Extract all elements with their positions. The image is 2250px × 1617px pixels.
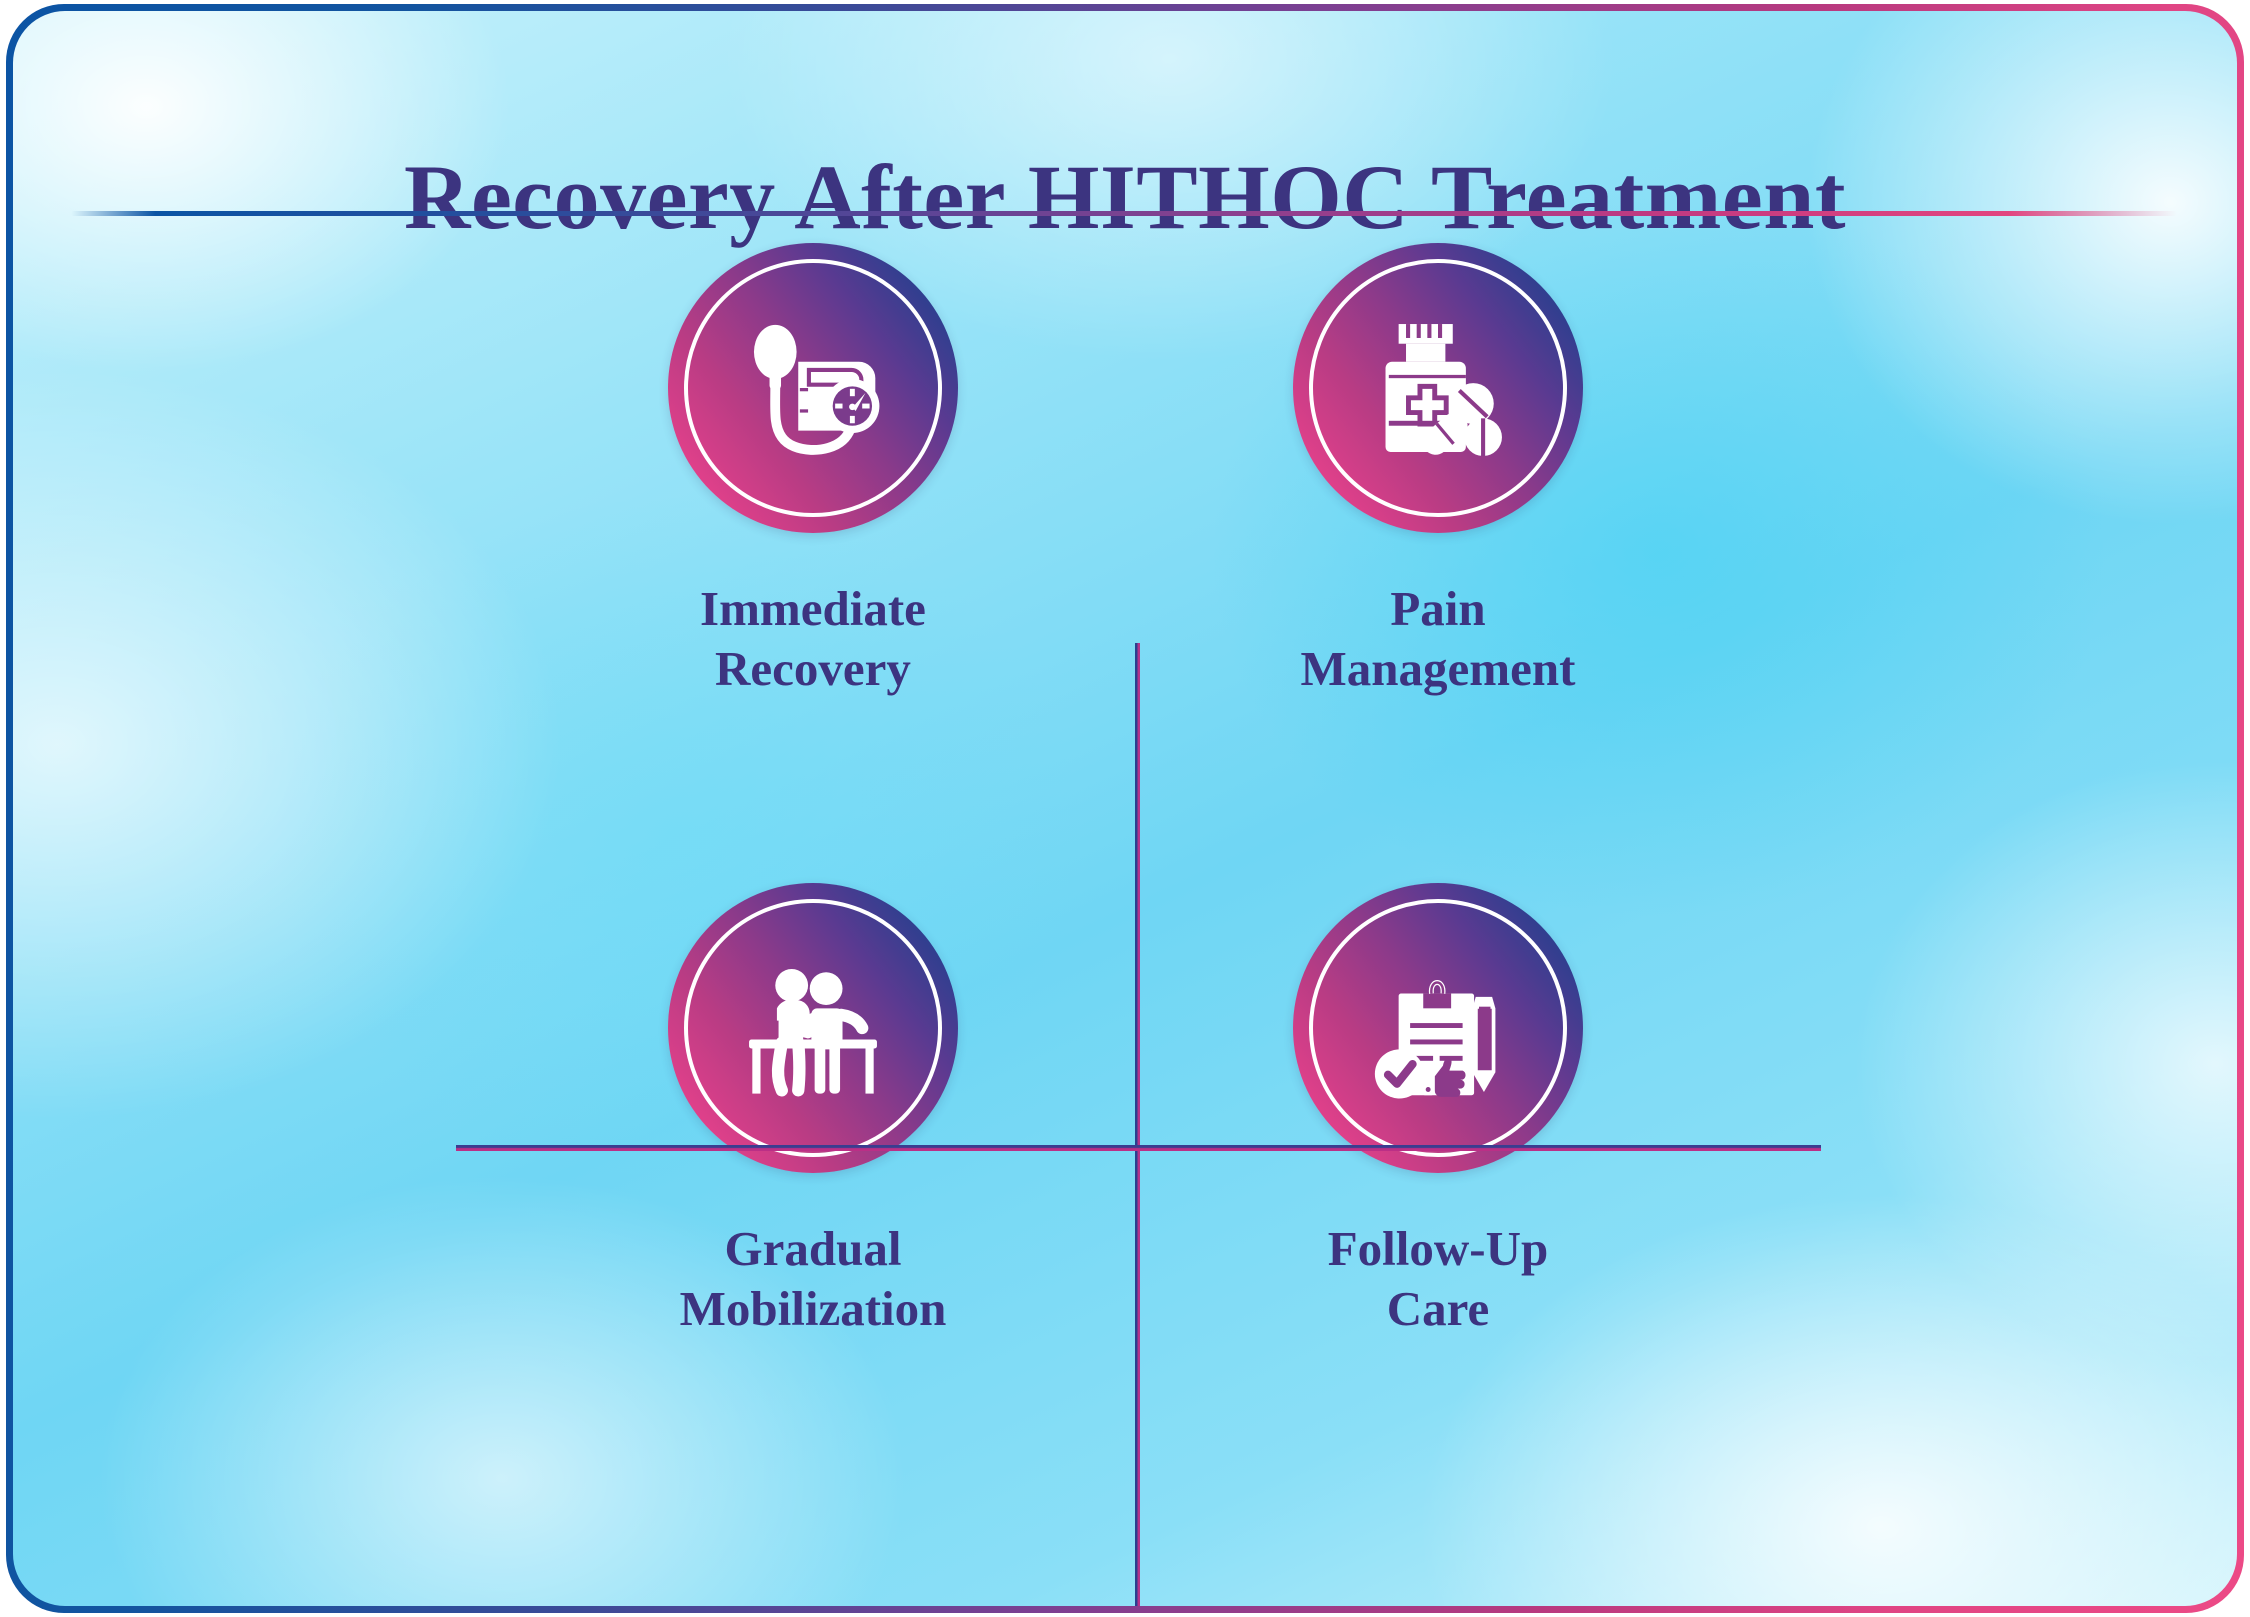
quadrant-grid: Immediate Recovery [13, 243, 2237, 1573]
quadrant-immediate-recovery[interactable]: Immediate Recovery [543, 243, 1083, 699]
title-divider-rule [71, 211, 2177, 216]
quadrant-label-followup-care: Follow-Up Care [1328, 1219, 1549, 1339]
clipboard-checklist-pen-icon [1356, 946, 1520, 1110]
infographic-card: Recovery After HITHOC Treatment [6, 4, 2244, 1613]
quadrant-pain-management[interactable]: Pain Management [1168, 243, 1708, 699]
medallion-gradual-mobilization[interactable] [668, 883, 958, 1173]
divider-horizontal [456, 1145, 1821, 1151]
quadrant-label-gradual-mobilization: Gradual Mobilization [680, 1219, 947, 1339]
quadrant-label-pain-management: Pain Management [1301, 579, 1576, 699]
card-surface: Recovery After HITHOC Treatment [13, 11, 2237, 1606]
page-title: Recovery After HITHOC Treatment [13, 149, 2237, 246]
blood-pressure-monitor-icon [731, 306, 895, 470]
medicine-bottle-pills-icon [1356, 306, 1520, 470]
divider-vertical [1135, 643, 1140, 1606]
quadrant-label-immediate-recovery: Immediate Recovery [700, 579, 926, 699]
physical-therapy-parallel-bars-icon [731, 946, 895, 1110]
medallion-immediate-recovery[interactable] [668, 243, 958, 533]
quadrant-followup-care[interactable]: Follow-Up Care [1168, 883, 1708, 1339]
medallion-pain-management[interactable] [1293, 243, 1583, 533]
medallion-followup-care[interactable] [1293, 883, 1583, 1173]
quadrant-gradual-mobilization[interactable]: Gradual Mobilization [543, 883, 1083, 1339]
